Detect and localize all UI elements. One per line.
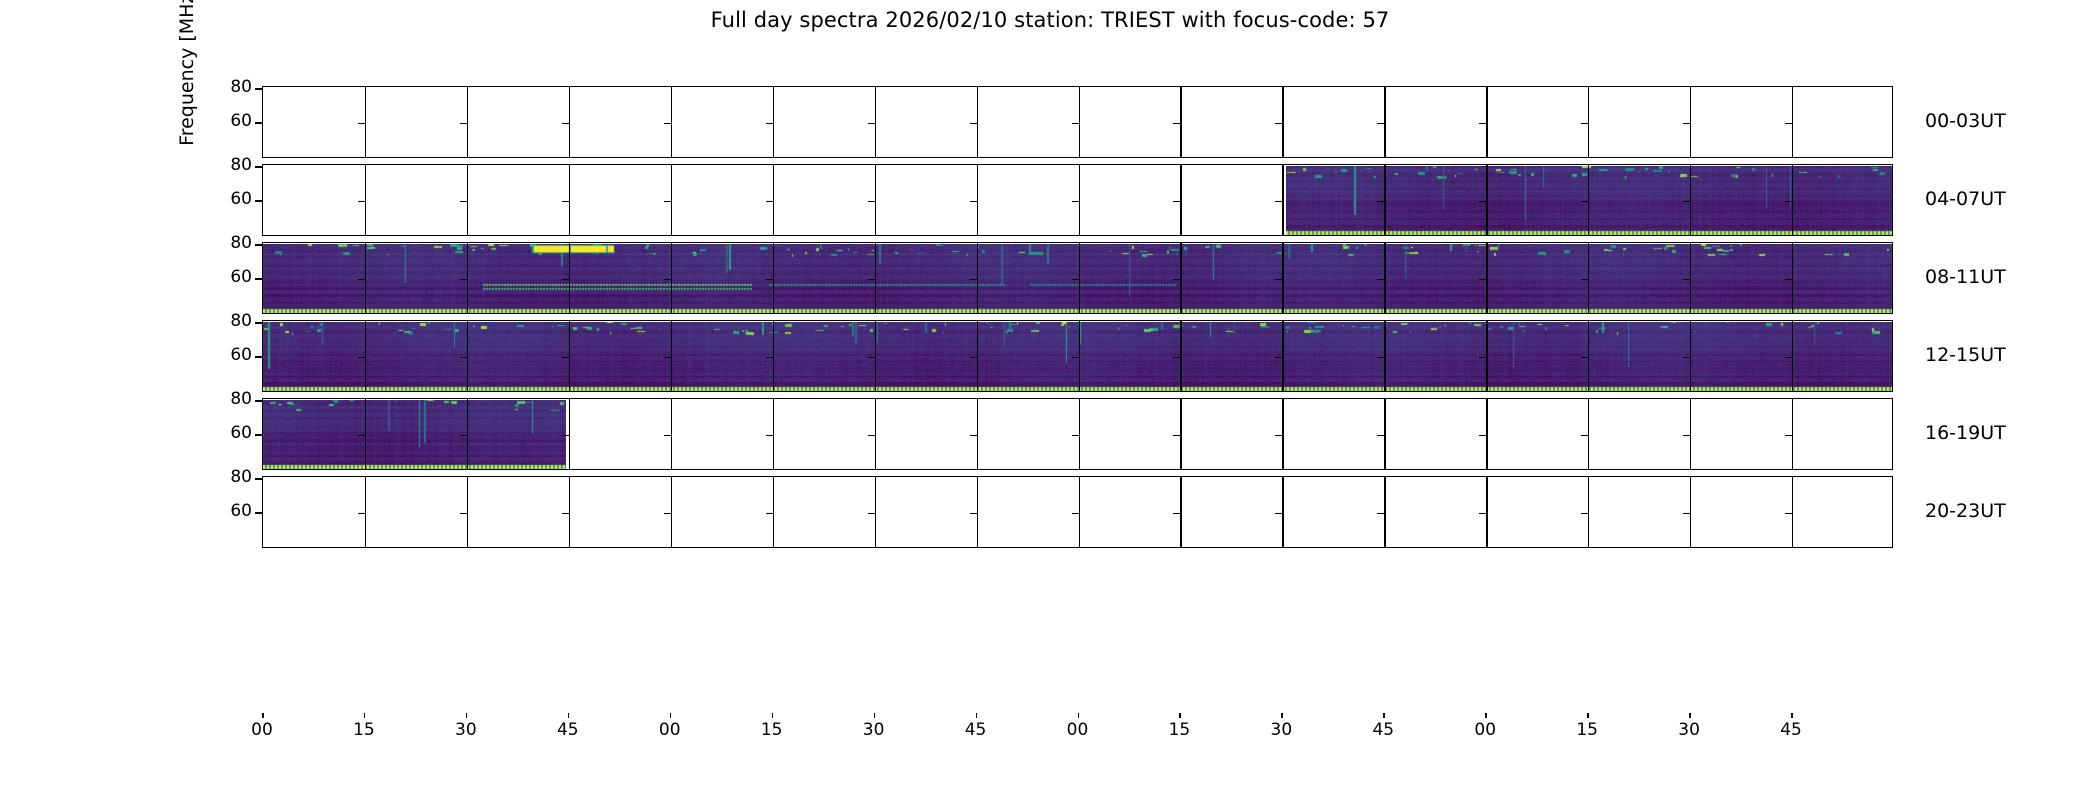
spectrogram-panel-04-07ut[interactable] xyxy=(262,164,1893,236)
y-tick-label: 80 xyxy=(192,311,252,331)
x-tick-mark xyxy=(364,713,366,718)
spectrogram-panel-16-19ut[interactable] xyxy=(262,398,1893,470)
row-label-00-03ut: 00-03UT xyxy=(1925,110,2006,132)
y-tick-label: 60 xyxy=(192,267,252,287)
y-tick-label: 60 xyxy=(192,111,252,131)
spectrogram-panel-00-03ut[interactable] xyxy=(262,86,1893,158)
x-tick-mark xyxy=(1078,713,1080,718)
x-tick-label: 30 xyxy=(1261,720,1301,740)
y-tick-mark xyxy=(255,512,262,514)
x-tick-mark xyxy=(1281,713,1283,718)
y-tick-label: 60 xyxy=(192,345,252,365)
y-tick-mark xyxy=(255,322,262,324)
y-tick-label: 60 xyxy=(192,423,252,443)
y-tick-label: 80 xyxy=(192,389,252,409)
panel-image-area xyxy=(263,165,1892,235)
spectrogram-panel-20-23ut[interactable] xyxy=(262,476,1893,548)
row-label-16-19ut: 16-19UT xyxy=(1925,422,2006,444)
spectrogram-panel-08-11ut[interactable] xyxy=(262,242,1893,314)
figure-title: Full day spectra 2026/02/10 station: TRI… xyxy=(0,8,2100,32)
x-tick-mark xyxy=(772,713,774,718)
row-label-20-23ut: 20-23UT xyxy=(1925,500,2006,522)
spectrogram-panel-12-15ut[interactable] xyxy=(262,320,1893,392)
y-tick-mark xyxy=(255,434,262,436)
panel-image-area xyxy=(263,477,1892,547)
x-tick-label: 15 xyxy=(752,720,792,740)
spectrogram-image xyxy=(1286,166,1892,235)
x-tick-label: 45 xyxy=(1363,720,1403,740)
x-tick-mark xyxy=(1383,713,1385,718)
x-tick-label: 15 xyxy=(1159,720,1199,740)
panel-image-area xyxy=(263,399,1892,469)
x-tick-mark xyxy=(1689,713,1691,718)
y-tick-label: 80 xyxy=(192,155,252,175)
spectrogram-image xyxy=(263,400,566,469)
x-tick-mark xyxy=(1587,713,1589,718)
x-tick-label: 45 xyxy=(956,720,996,740)
y-tick-label: 80 xyxy=(192,233,252,253)
x-tick-label: 00 xyxy=(650,720,690,740)
y-tick-label: 80 xyxy=(192,467,252,487)
y-tick-mark xyxy=(255,122,262,124)
y-tick-label: 60 xyxy=(192,189,252,209)
x-tick-label: 30 xyxy=(1669,720,1709,740)
x-tick-label: 30 xyxy=(854,720,894,740)
row-label-04-07ut: 04-07UT xyxy=(1925,188,2006,210)
y-tick-mark xyxy=(255,200,262,202)
x-tick-label: 00 xyxy=(1465,720,1505,740)
x-tick-mark xyxy=(976,713,978,718)
x-tick-label: 15 xyxy=(1567,720,1607,740)
spectrogram-image xyxy=(263,322,1892,391)
row-label-12-15ut: 12-15UT xyxy=(1925,344,2006,366)
x-tick-label: 45 xyxy=(548,720,588,740)
spectrogram-figure: Full day spectra 2026/02/10 station: TRI… xyxy=(0,0,2100,800)
y-axis-label: Frequency [MHz] xyxy=(176,0,198,216)
y-tick-label: 60 xyxy=(192,501,252,521)
x-tick-mark xyxy=(874,713,876,718)
panel-image-area xyxy=(263,243,1892,313)
x-axis: 00153045001530450015304500153045 xyxy=(262,718,1893,758)
x-tick-mark xyxy=(262,713,264,718)
x-tick-mark xyxy=(1791,713,1793,718)
x-tick-label: 15 xyxy=(344,720,384,740)
x-tick-mark xyxy=(466,713,468,718)
y-tick-mark xyxy=(255,278,262,280)
x-tick-label: 30 xyxy=(446,720,486,740)
y-tick-mark xyxy=(255,166,262,168)
x-tick-mark xyxy=(1179,713,1181,718)
panel-image-area xyxy=(263,321,1892,391)
x-tick-label: 00 xyxy=(1058,720,1098,740)
y-tick-mark xyxy=(255,400,262,402)
y-tick-mark xyxy=(255,88,262,90)
spectrogram-image xyxy=(263,244,1892,313)
y-tick-mark xyxy=(255,244,262,246)
row-label-08-11ut: 08-11UT xyxy=(1925,266,2006,288)
panel-image-area xyxy=(263,87,1892,157)
x-tick-label: 00 xyxy=(242,720,282,740)
y-tick-label: 80 xyxy=(192,77,252,97)
y-tick-mark xyxy=(255,356,262,358)
x-tick-mark xyxy=(670,713,672,718)
x-tick-mark xyxy=(1485,713,1487,718)
x-tick-label: 45 xyxy=(1771,720,1811,740)
x-tick-mark xyxy=(568,713,570,718)
y-tick-mark xyxy=(255,478,262,480)
